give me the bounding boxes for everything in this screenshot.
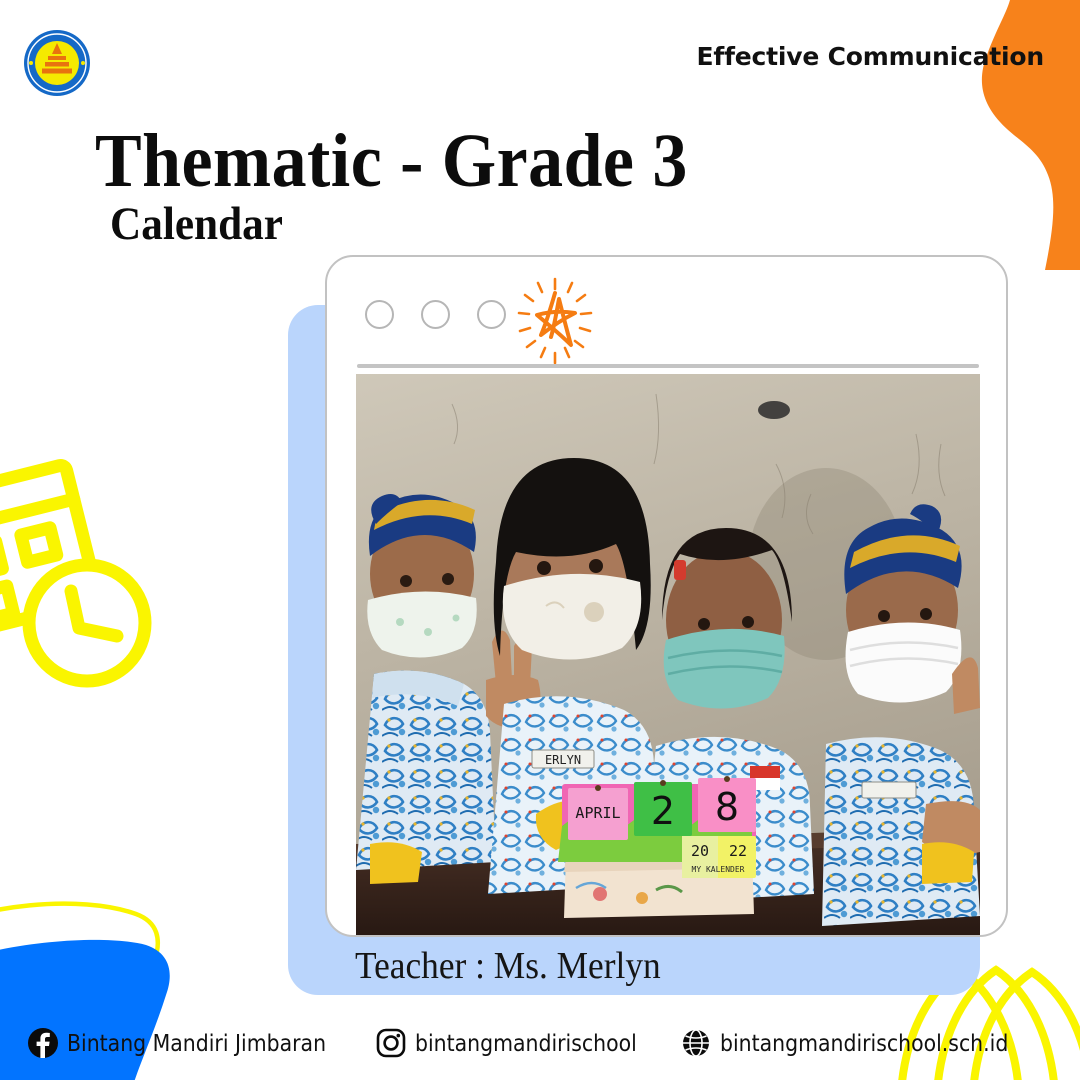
- teacher-label: Teacher : Ms. Merlyn: [355, 944, 661, 988]
- svg-text:ERLYN: ERLYN: [545, 753, 581, 767]
- sparkle-star-icon: [507, 277, 603, 369]
- footer-item-website[interactable]: bintangmandirischool.sch.id: [681, 1028, 1051, 1058]
- footer-text-instagram: bintangmandirischool: [415, 1029, 637, 1057]
- facebook-icon[interactable]: [28, 1028, 58, 1058]
- classroom-photo: ERLYN ALEXA: [356, 374, 980, 935]
- window-dot-2[interactable]: [421, 300, 450, 329]
- svg-text:APRIL: APRIL: [575, 804, 620, 822]
- school-logo: [22, 28, 92, 98]
- page-title: Thematic - Grade 3: [95, 118, 688, 205]
- header-tagline: Effective Communication: [697, 42, 1044, 71]
- footer-item-instagram[interactable]: bintangmandirischool: [376, 1028, 670, 1058]
- svg-text:20: 20: [691, 842, 709, 860]
- svg-text:MY KALENDER: MY KALENDER: [692, 865, 745, 874]
- footer-item-facebook[interactable]: Bintang Mandiri Jimbaran: [28, 1028, 365, 1058]
- footer-text-website: bintangmandirischool.sch.id: [720, 1029, 1008, 1057]
- window-controls: [365, 300, 506, 329]
- window-dot-3[interactable]: [477, 300, 506, 329]
- orange-blob-decoration: [820, 0, 1080, 270]
- calendar-clock-decoration: [0, 425, 180, 695]
- svg-text:2: 2: [651, 789, 675, 833]
- page-subtitle: Calendar: [110, 197, 283, 251]
- globe-icon[interactable]: [681, 1028, 711, 1058]
- svg-text:8: 8: [715, 785, 739, 829]
- footer-text-facebook: Bintang Mandiri Jimbaran: [67, 1029, 326, 1057]
- window-dot-1[interactable]: [365, 300, 394, 329]
- card-divider: [357, 364, 979, 368]
- instagram-icon[interactable]: [376, 1028, 406, 1058]
- footer-social-bar: Bintang Mandiri Jimbaran bintangmandiris…: [0, 1018, 1080, 1068]
- svg-text:22: 22: [729, 842, 747, 860]
- browser-window-card: ERLYN ALEXA: [325, 255, 1008, 937]
